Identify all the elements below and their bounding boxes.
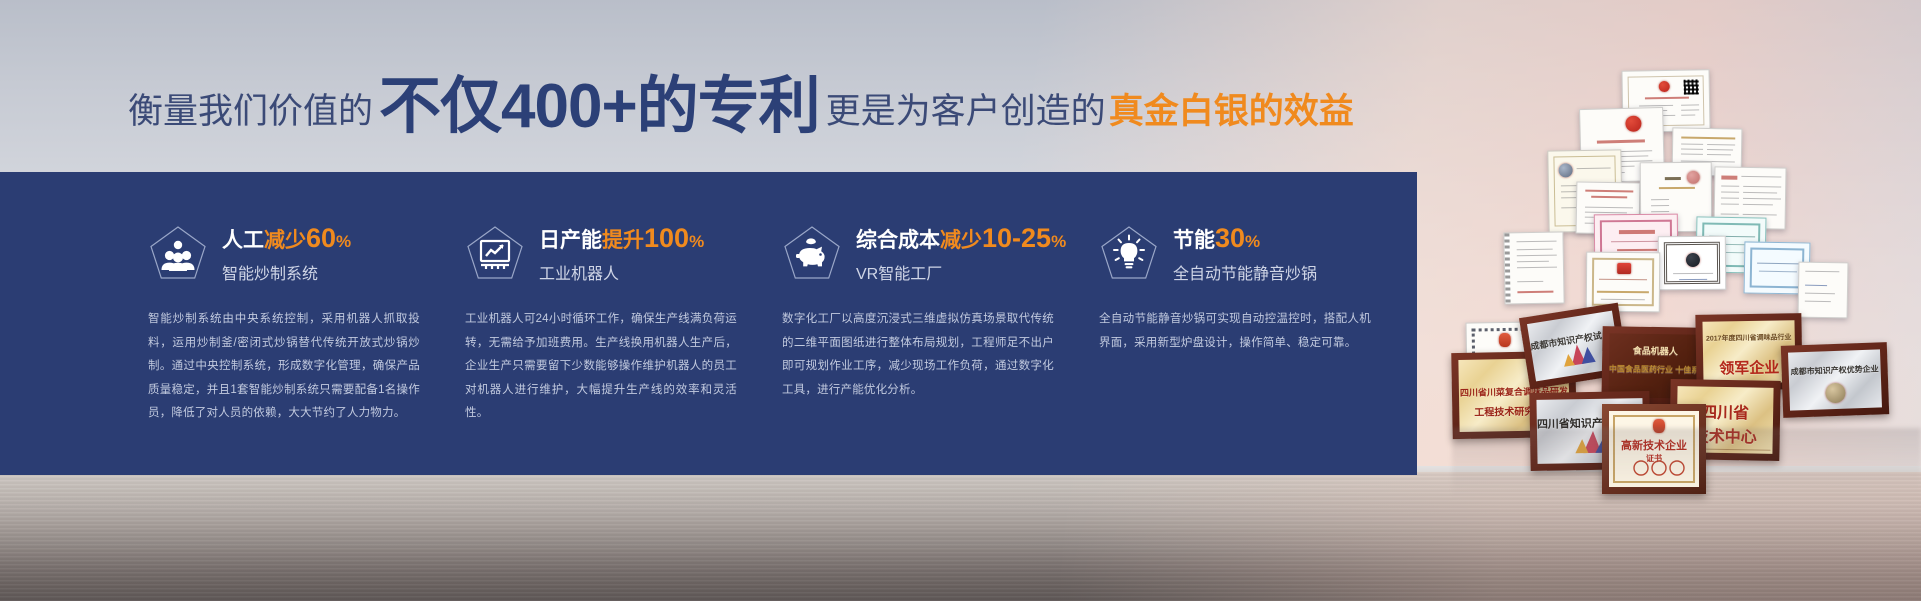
feature-subtitle-2: 工业机器人 xyxy=(539,260,704,284)
feature-title-highlight: 提升 xyxy=(602,229,644,252)
certificate-paper xyxy=(1658,236,1726,291)
feature-card-4: 节能30% 全自动节能静音炒锅 全自动节能静音炒锅可实现自动控温控时，搭配人机界… xyxy=(1099,172,1416,475)
headline-middle: 更是为客户创造的 xyxy=(826,94,1106,129)
certificate-paper xyxy=(1586,252,1661,313)
feature-title-number: 30 xyxy=(1215,223,1245,253)
feature-title-unit: % xyxy=(336,232,351,251)
feature-title-highlight: 减少 xyxy=(264,229,306,252)
headline: 衡量我们价值的 不仅400+的专利 更是为客户创造的 真金白银的效益 xyxy=(128,72,1354,140)
feature-title-number: 10-25 xyxy=(982,223,1051,253)
feature-title-prefix: 日产能 xyxy=(539,229,602,252)
certificate-paper xyxy=(1798,262,1849,319)
feature-card-2: 日产能提升100% 工业机器人 工业机器人可24小时循环工作，确保生产线满负荷运… xyxy=(465,172,782,475)
chart-board-icon xyxy=(465,224,525,284)
feature-title-unit: % xyxy=(689,232,704,251)
award-plaque: 成都市知识产权优势企业 xyxy=(1781,342,1889,418)
plaque-text: 中国食品医药行业 十佳系统集成商 xyxy=(1609,363,1701,376)
feature-subtitle-4: 全自动节能静音炒锅 xyxy=(1173,260,1317,284)
headline-lead: 衡量我们价值的 xyxy=(128,94,373,129)
headline-emphasis: 不仅400+的专利 xyxy=(379,76,820,138)
feature-body-4: 全自动节能静音炒锅可实现自动控温控时，搭配人机界面，采用新型炉盘设计，操作简单、… xyxy=(1099,308,1371,355)
feature-title-number: 100 xyxy=(644,223,689,253)
features-panel: 人工减少60% 智能炒制系统 智能炒制系统由中央系统控制，采用机器人抓取投料，运… xyxy=(0,172,1417,475)
certificate-wall: 四川省川菜复合调味品研发 工程技术研究中心 成都市知识产权试点企业 食品机器人 … xyxy=(1452,52,1921,512)
feature-title-unit: % xyxy=(1051,232,1066,251)
feature-body-3: 数字化工厂以高度沉浸式三维虚拟仿真场景取代传统的二维平面图纸进行整体布局规划，工… xyxy=(782,308,1054,402)
light-bulb-icon xyxy=(1099,224,1159,284)
headline-accent: 真金白银的效益 xyxy=(1109,94,1354,129)
feature-body-1: 智能炒制系统由中央系统控制，采用机器人抓取投料，运用炒制釜/密闭式炒锅替代传统开… xyxy=(148,308,420,426)
people-group-icon xyxy=(148,224,208,284)
promo-banner: 衡量我们价值的 不仅400+的专利 更是为客户创造的 真金白银的效益 xyxy=(0,0,1921,601)
plaque-text: 食品机器人 xyxy=(1609,343,1701,358)
feature-title-highlight: 减少 xyxy=(940,229,982,252)
feature-card-1: 人工减少60% 智能炒制系统 智能炒制系统由中央系统控制，采用机器人抓取投料，运… xyxy=(148,172,465,475)
feature-title-number: 60 xyxy=(306,223,336,253)
feature-title-prefix: 节能 xyxy=(1173,229,1215,252)
feature-title-4: 节能30% xyxy=(1173,224,1317,252)
feature-title-prefix: 人工 xyxy=(222,229,264,252)
feature-title-2: 日产能提升100% xyxy=(539,224,704,252)
feature-title-unit: % xyxy=(1245,232,1260,251)
certificate-paper xyxy=(1503,231,1564,304)
feature-body-2: 工业机器人可24小时循环工作，确保生产线满负荷运转，无需给予加班费用。生产线换用… xyxy=(465,308,737,426)
piggy-bank-icon xyxy=(782,224,842,284)
feature-subtitle-3: VR智能工厂 xyxy=(856,260,1066,284)
feature-title-prefix: 综合成本 xyxy=(856,229,940,252)
feature-subtitle-1: 智能炒制系统 xyxy=(222,260,351,284)
feature-title-1: 人工减少60% xyxy=(222,224,351,252)
feature-card-3: 综合成本减少10-25% VR智能工厂 数字化工厂以高度沉浸式三维虚拟仿真场景取… xyxy=(782,172,1099,475)
feature-title-3: 综合成本减少10-25% xyxy=(856,224,1066,252)
plaque-text: 成都市知识产权优势企业 xyxy=(1789,363,1881,377)
plaque-text: 2017年度四川省调味品行业 xyxy=(1703,332,1795,344)
